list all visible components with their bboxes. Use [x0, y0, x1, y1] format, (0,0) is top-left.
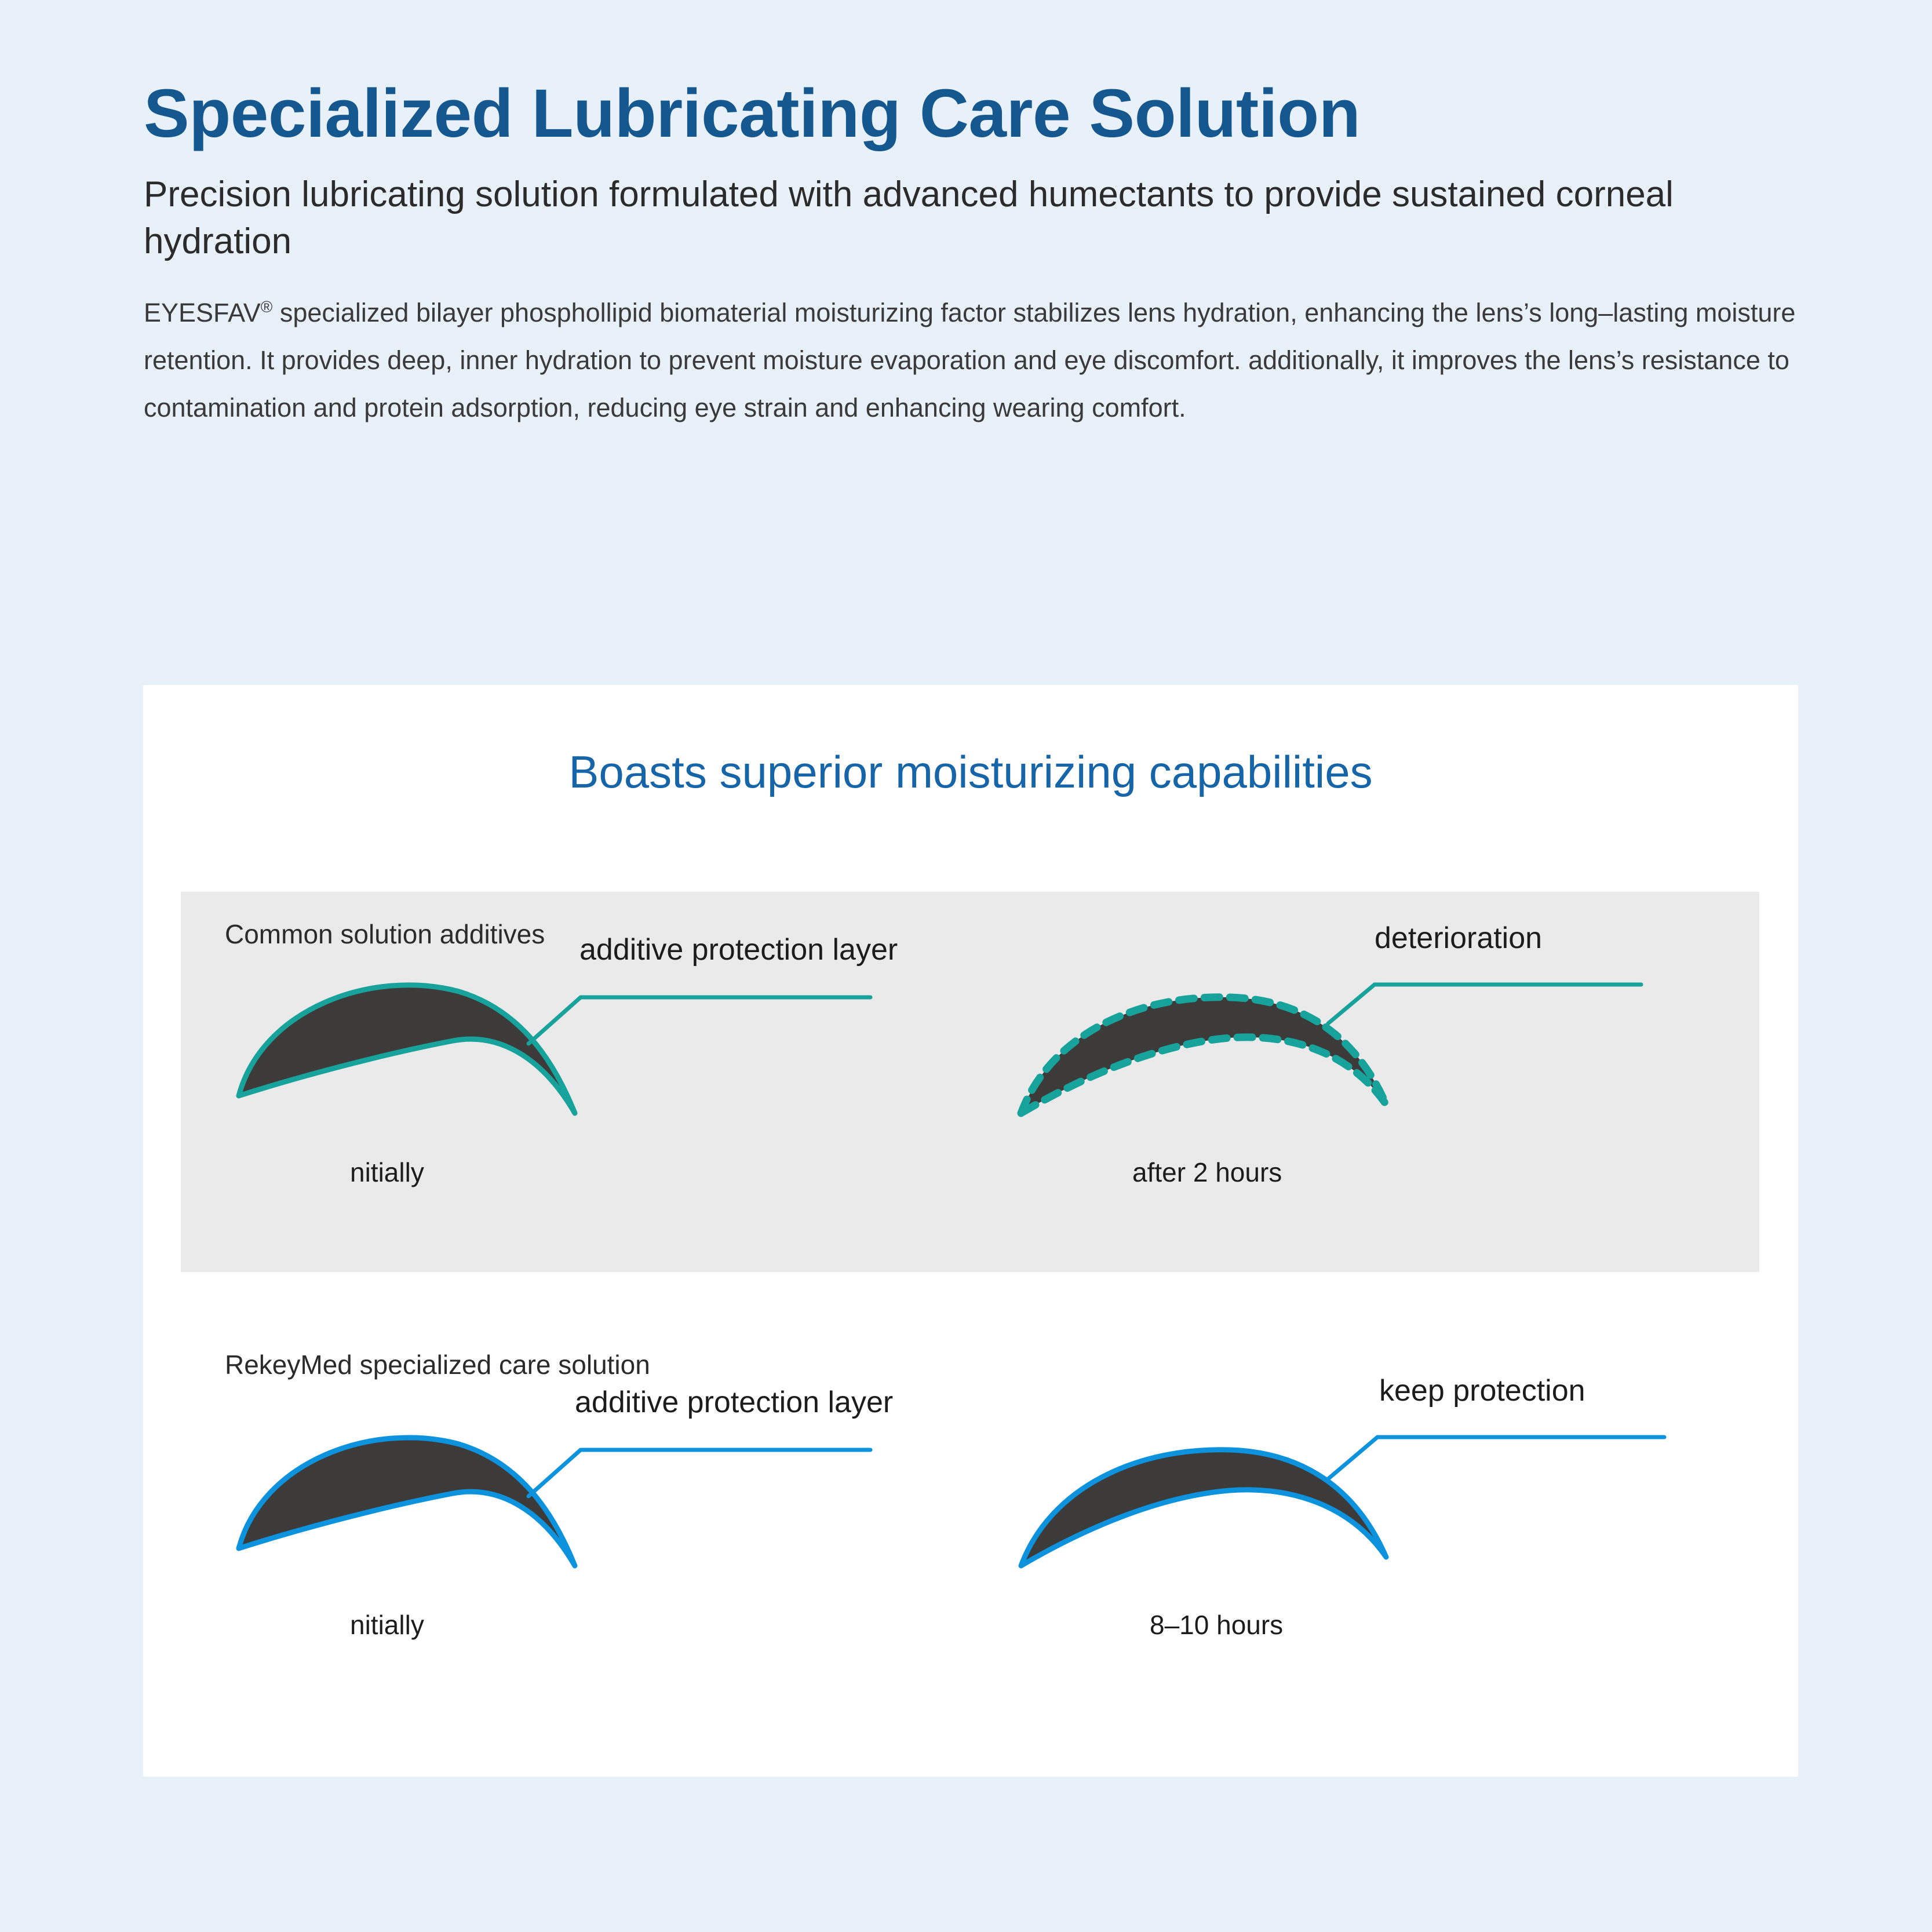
callout-label-additive-protection-layer: additive protection layer [579, 932, 898, 967]
leader-line-diagonal [1328, 985, 1375, 1023]
body-copy: specialized bilayer phosphollipid biomat… [144, 298, 1795, 422]
figure-common-initial: additive protection layer nitially [227, 957, 969, 1235]
registered-mark-icon: ® [261, 298, 273, 316]
page-title: Specialized Lubricating Care Solution [144, 75, 1813, 152]
callout-label-keep-protection: keep protection [1379, 1373, 1585, 1408]
caption-label-8-10-hours: 8–10 hours [1150, 1609, 1283, 1641]
caption-label-initially: nitially [350, 1157, 424, 1188]
figure-common-after-2-hours: deterioration after 2 hours [1004, 957, 1745, 1235]
figure-rekeymed-8-10-hours: keep protection 8–10 hours [1004, 1409, 1745, 1687]
panel-label-rekeymed: RekeyMed specialized care solution [225, 1349, 650, 1380]
lens-shape-flat-crescent [1021, 1450, 1386, 1566]
panel-label-common: Common solution additives [225, 918, 545, 950]
callout-label-deterioration: deterioration [1375, 921, 1542, 956]
card-title: Boasts superior moisturizing capabilitie… [143, 746, 1798, 799]
lens-shape-thick-crescent [239, 985, 575, 1113]
leader-line-diagonal [528, 1450, 581, 1496]
header: Specialized Lubricating Care Solution Pr… [144, 75, 1813, 432]
infographic-page: Specialized Lubricating Care Solution Pr… [0, 0, 1932, 1932]
leader-line-diagonal [528, 997, 581, 1044]
lens-diagram-rekeymed-initial [227, 1409, 969, 1687]
caption-label-after-2-hours: after 2 hours [1132, 1157, 1282, 1188]
figure-rekeymed-initial: additive protection layer nitially [227, 1409, 969, 1687]
panel-rekeymed: RekeyMed specialized care solution addit… [181, 1322, 1759, 1751]
page-body-paragraph: EYESFAV® specialized bilayer phosphollip… [144, 289, 1813, 432]
callout-label-additive-protection-layer: additive protection layer [575, 1385, 893, 1420]
lens-shape-flat-crescent [1021, 997, 1386, 1113]
comparison-card: Boasts superior moisturizing capabilitie… [143, 685, 1798, 1777]
lens-diagram-common-initial [227, 957, 969, 1235]
lens-diagram-common-deteriorated [1004, 957, 1745, 1235]
leader-line-diagonal [1328, 1437, 1377, 1479]
brand-name: EYESFAV [144, 298, 261, 327]
panel-common-additives: Common solution additives additive prote… [181, 892, 1759, 1272]
page-subtitle: Precision lubricating solution formulate… [144, 172, 1813, 265]
lens-diagram-rekeymed-protected [1004, 1409, 1745, 1687]
caption-label-initially: nitially [350, 1609, 424, 1641]
lens-shape-thick-crescent [239, 1438, 575, 1566]
